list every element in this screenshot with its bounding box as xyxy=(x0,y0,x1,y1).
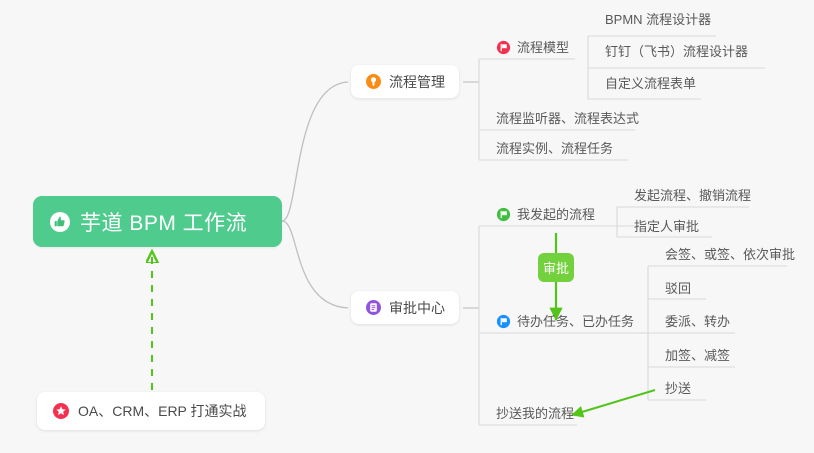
thumbs-up-icon xyxy=(49,211,71,233)
branch-label-approval-center: 审批中心 xyxy=(389,298,445,318)
document-icon xyxy=(365,299,382,316)
leaf-label-dingtalk-designer: 钉钉（飞书）流程设计器 xyxy=(605,44,748,59)
leaf-label-assignee-approval: 指定人审批 xyxy=(634,219,699,234)
arrow-cc-to-ccflow xyxy=(572,390,655,415)
leaf-label-start-cancel-flow: 发起流程、撤销流程 xyxy=(634,188,751,203)
leaf-countersign[interactable]: 会签、或签、依次审批 xyxy=(659,247,801,267)
leaf-process-instance[interactable]: 流程实例、流程任务 xyxy=(490,141,619,161)
leaf-label-add-remove-sign: 加签、减签 xyxy=(665,348,730,363)
flag-icon xyxy=(496,207,511,222)
leaf-assignee-approval[interactable]: 指定人审批 xyxy=(628,219,705,239)
leaf-bpmn-designer[interactable]: BPMN 流程设计器 xyxy=(599,12,717,32)
root-label: 芋道 BPM 工作流 xyxy=(80,207,247,237)
leaf-label-process-instance: 流程实例、流程任务 xyxy=(496,141,613,156)
link-root-to-approval-center xyxy=(282,221,348,308)
leaf-label-countersign: 会签、或签、依次审批 xyxy=(665,247,795,262)
flag-icon xyxy=(496,40,511,55)
leaf-dingtalk-designer[interactable]: 钉钉（飞书）流程设计器 xyxy=(599,44,754,64)
leaf-label-delegate-transfer: 委派、转办 xyxy=(665,314,730,329)
leaf-custom-form[interactable]: 自定义流程表单 xyxy=(599,76,702,96)
approve-badge-label: 审批 xyxy=(543,258,569,277)
approve-badge: 审批 xyxy=(538,253,574,282)
leaf-label-cc-to-me: 抄送我的流程 xyxy=(496,406,574,421)
leaf-process-model[interactable]: 流程模型 xyxy=(490,40,575,60)
leaf-label-reject: 驳回 xyxy=(665,281,691,296)
leaf-todo-done-tasks[interactable]: 待办任务、已办任务 xyxy=(490,314,640,334)
leaf-process-listener[interactable]: 流程监听器、流程表达式 xyxy=(490,111,645,131)
leaf-add-remove-sign[interactable]: 加签、减签 xyxy=(659,348,736,368)
leaf-label-custom-form: 自定义流程表单 xyxy=(605,76,696,91)
pin-icon xyxy=(365,73,382,90)
leaf-label-bpmn-designer: BPMN 流程设计器 xyxy=(605,12,711,27)
flag-icon xyxy=(496,314,511,329)
leaf-label-todo-done-tasks: 待办任务、已办任务 xyxy=(517,314,634,329)
leaf-cc-to-me[interactable]: 抄送我的流程 xyxy=(490,406,580,426)
star-icon xyxy=(52,402,70,420)
callout-label: OA、CRM、ERP 打通实战 xyxy=(78,401,247,421)
branch-node-approval-center[interactable]: 审批中心 xyxy=(351,291,459,324)
branch-node-process-management[interactable]: 流程管理 xyxy=(351,65,459,98)
leaf-label-process-model: 流程模型 xyxy=(517,40,569,55)
leaf-my-initiated[interactable]: 我发起的流程 xyxy=(490,207,601,227)
leaf-start-cancel-flow[interactable]: 发起流程、撤销流程 xyxy=(628,188,757,208)
leaf-reject[interactable]: 驳回 xyxy=(659,281,697,301)
mindmap-canvas: 芋道 BPM 工作流 OA、CRM、ERP 打通实战 流程管理 xyxy=(0,0,814,453)
leaf-cc[interactable]: 抄送 xyxy=(659,381,697,401)
branch-label-process-management: 流程管理 xyxy=(389,72,445,92)
leaf-label-process-listener: 流程监听器、流程表达式 xyxy=(496,111,639,126)
leaf-label-my-initiated: 我发起的流程 xyxy=(517,207,595,222)
link-root-to-process-management xyxy=(282,82,348,221)
root-node[interactable]: 芋道 BPM 工作流 xyxy=(33,196,282,247)
callout-node-integration[interactable]: OA、CRM、ERP 打通实战 xyxy=(37,392,265,430)
leaf-delegate-transfer[interactable]: 委派、转办 xyxy=(659,314,736,334)
leaf-label-cc: 抄送 xyxy=(665,381,691,396)
